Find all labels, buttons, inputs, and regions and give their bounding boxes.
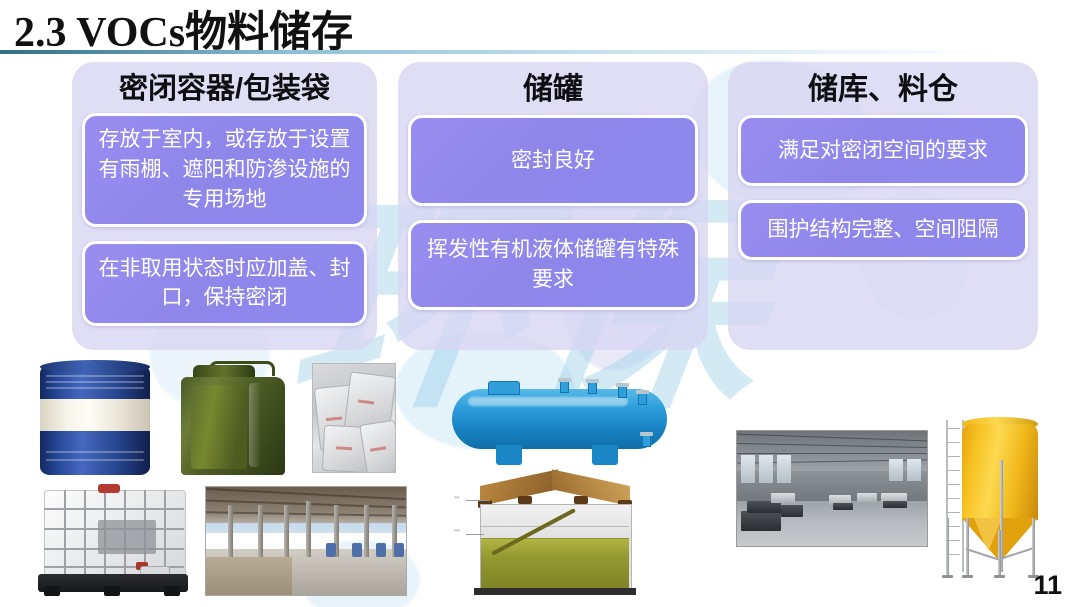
info-box-good-seal[interactable]: 密封良好	[408, 115, 698, 207]
title-divider	[0, 50, 1080, 54]
info-box-vol-organic-liquid[interactable]: 挥发性有机液体储罐有特殊要求	[408, 220, 698, 310]
info-box-storage-location[interactable]: 存放于室内，或存放于设置有雨棚、遮阳和防渗设施的专用场地	[82, 113, 367, 226]
info-box-keep-sealed[interactable]: 在非取用状态时应加盖、封口，保持密闭	[82, 241, 367, 327]
panel-box-list: 存放于室内，或存放于设置有雨棚、遮阳和防渗设施的专用场地 在非取用状态时应加盖、…	[82, 113, 367, 326]
page-number: 11	[1033, 570, 1062, 601]
panel-storage-tank: 储罐 密封良好 挥发性有机液体储罐有特殊要求	[398, 62, 708, 350]
title-bar: 2.3 VOCs物料储存	[0, 0, 1080, 56]
panel-title-warehouse-silo: 储库、料仓	[738, 70, 1028, 111]
info-box-enclosed-space[interactable]: 满足对密闭空间的要求	[738, 115, 1028, 187]
panel-box-list: 满足对密闭空间的要求 围护结构完整、空间阻隔	[738, 115, 1028, 261]
panel-title-storage-tank: 储罐	[408, 70, 698, 111]
panel-warehouse-silo: 储库、料仓 满足对密闭空间的要求 围护结构完整、空间阻隔	[728, 62, 1038, 350]
panel-sealed-containers: 密闭容器/包装袋 存放于室内，或存放于设置有雨棚、遮阳和防渗设施的专用场地 在非…	[72, 62, 377, 350]
info-box-envelope-integrity[interactable]: 围护结构完整、空间阻隔	[738, 200, 1028, 260]
panel-title-sealed-containers: 密闭容器/包装袋	[82, 70, 367, 109]
content-panels: 密闭容器/包装袋 存放于室内，或存放于设置有雨棚、遮阳和防渗设施的专用场地 在非…	[0, 0, 1080, 607]
panel-box-list: 密封良好 挥发性有机液体储罐有特殊要求	[408, 115, 698, 310]
